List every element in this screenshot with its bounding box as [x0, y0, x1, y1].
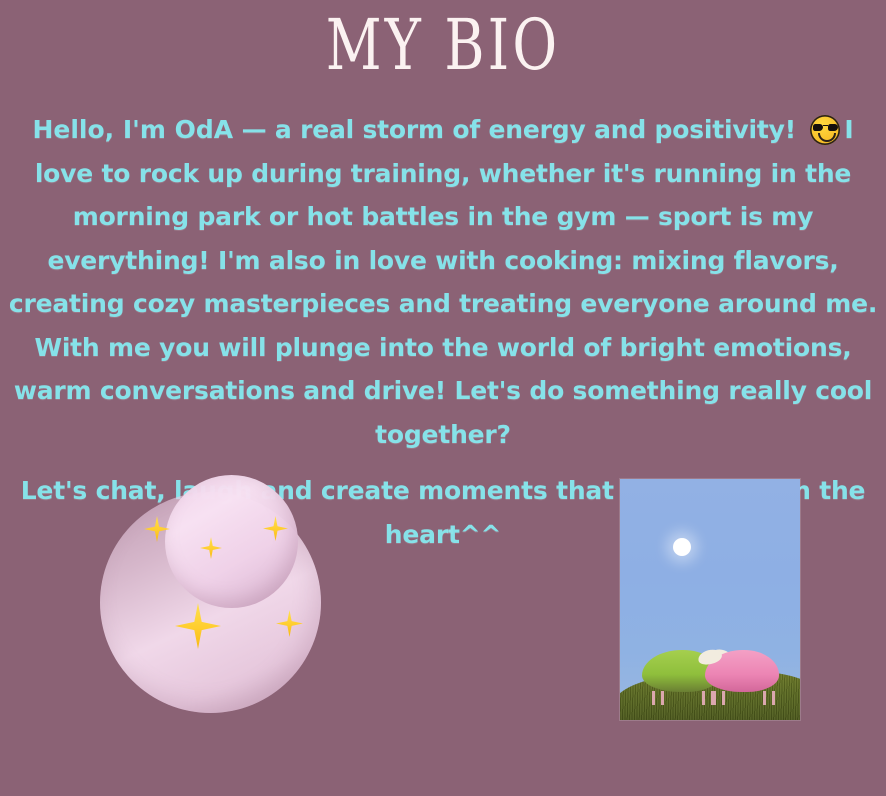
bio-paragraph-1: Hello, I'm OdA — a real storm of energy …	[6, 108, 880, 456]
pink-sheep-leg	[722, 691, 725, 705]
page-title: MY BIO	[97, 6, 788, 84]
sunglasses-icon	[813, 124, 838, 131]
green-sheep-leg	[652, 691, 655, 705]
pink-sheep-leg	[772, 691, 775, 705]
pink-sparkle-spheres	[96, 470, 326, 718]
bio-poster: MY BIO Hello, I'm OdA — a real storm of …	[0, 0, 886, 796]
green-and-pink-sheep-photo[interactable]	[620, 479, 800, 720]
bio-intro-run: — a real storm of energy and positivity!	[233, 115, 804, 144]
pink-sheep	[705, 648, 787, 692]
bio-name-run: Hello, I'm OdA	[32, 115, 233, 144]
moon-icon	[673, 538, 691, 556]
small-artifact-dot	[447, 528, 453, 534]
pink-sheep-leg	[713, 691, 716, 705]
green-sheep-leg	[702, 691, 705, 705]
green-sheep-leg	[661, 691, 664, 705]
pink-sheep-leg	[763, 691, 766, 705]
small-pink-sphere	[165, 475, 298, 608]
bio-body-run: I love to rock up during training, wheth…	[9, 115, 877, 449]
smiling-face-with-sunglasses-icon	[810, 115, 840, 145]
